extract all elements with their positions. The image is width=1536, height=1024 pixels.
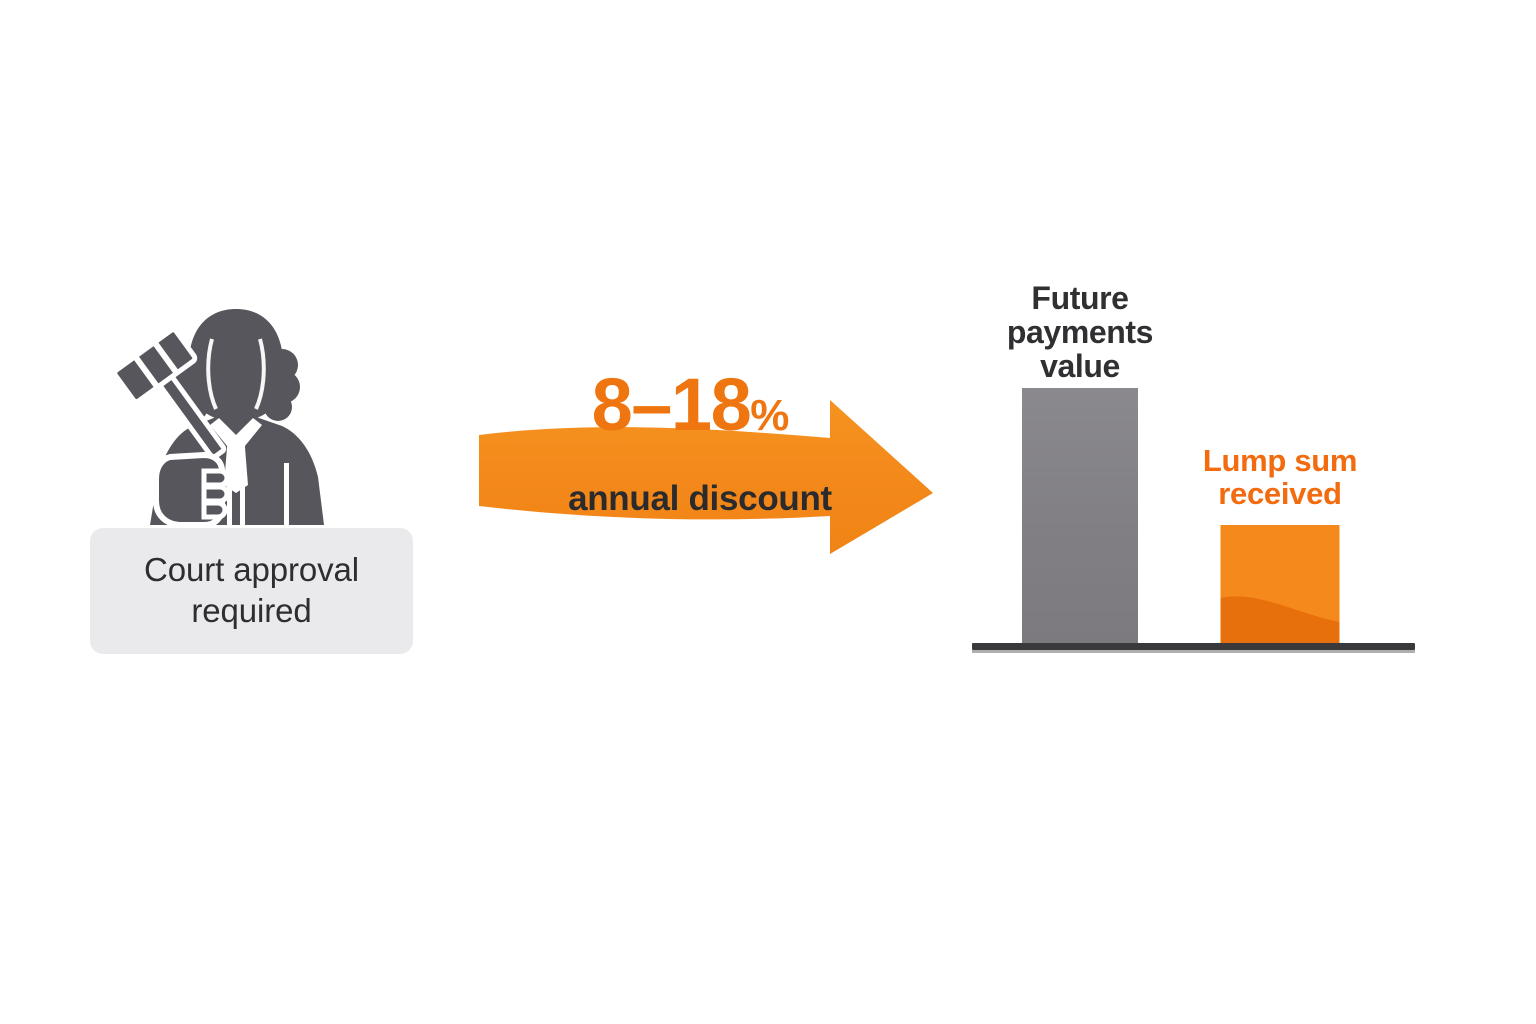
bar-future-payments	[1022, 388, 1138, 644]
bar-lump-wave-accent	[1221, 588, 1340, 644]
judge-with-gavel-icon	[106, 285, 356, 525]
discount-rate-unit: %	[750, 391, 788, 440]
discount-rate-value: 8–18	[592, 363, 751, 446]
court-approval-chip: Court approval required	[90, 528, 413, 654]
infographic-canvas: Court approval required 8–18% annual dis…	[0, 0, 1536, 1024]
bar-lump-sum	[1221, 525, 1340, 644]
value-comparison-chart: Future payments value Lump sum received	[965, 265, 1425, 665]
discount-rate: 8–18%	[470, 368, 910, 442]
chart-baseline	[972, 643, 1415, 650]
court-approval-panel: Court approval required	[88, 285, 418, 660]
lump-sum-label: Lump sum received	[1165, 445, 1395, 511]
discount-caption: annual discount	[490, 481, 910, 516]
future-payments-label: Future payments value	[965, 282, 1195, 384]
annual-discount-panel: 8–18% annual discount	[470, 366, 945, 566]
court-approval-label: Court approval required	[144, 550, 359, 632]
